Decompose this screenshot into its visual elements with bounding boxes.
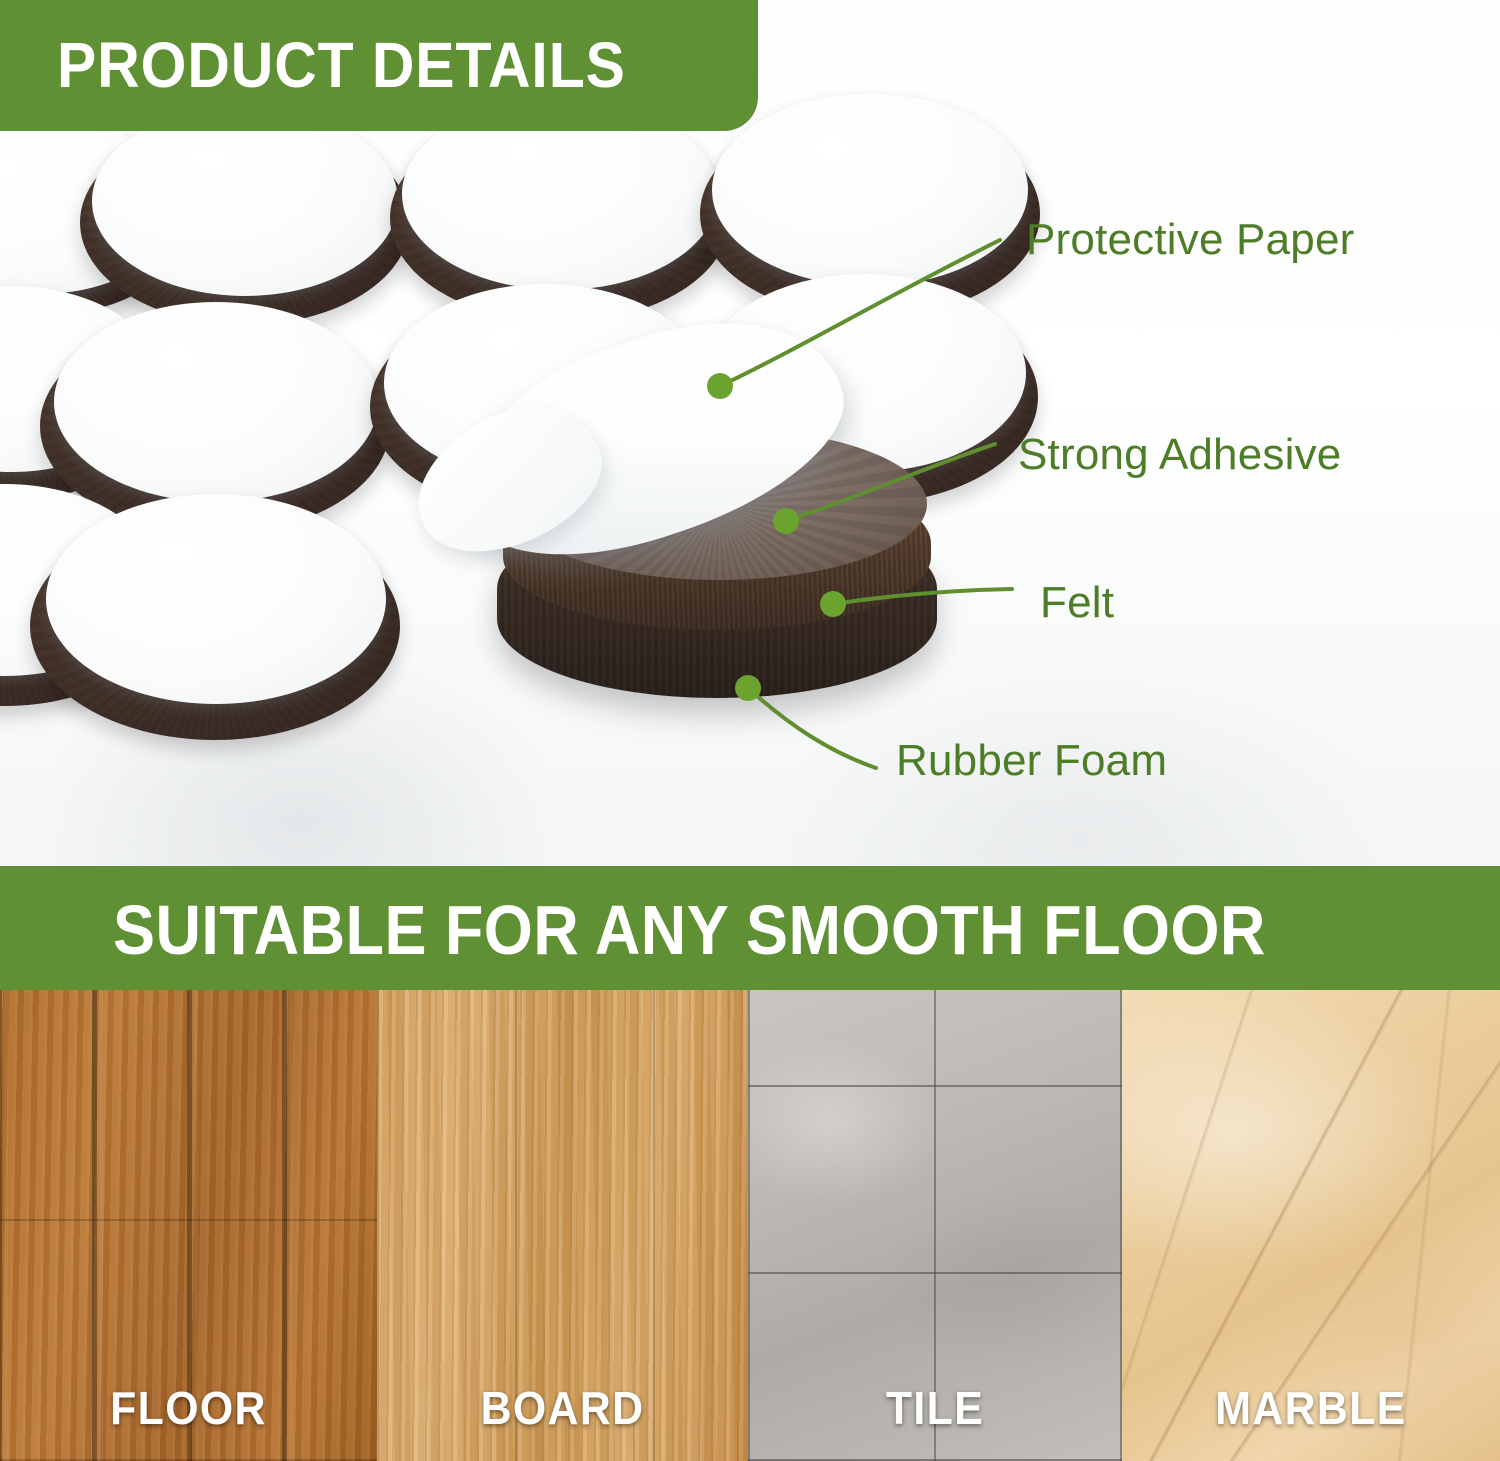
floor-sample-floor: FLOOR bbox=[0, 990, 377, 1461]
product-details-banner: PRODUCT DETAILS bbox=[0, 0, 758, 131]
floor-sample-label-tile: TILE bbox=[761, 1381, 1109, 1435]
featured-felt-pad bbox=[497, 392, 937, 712]
felt-pad bbox=[30, 512, 400, 740]
floor-sample-label-floor: FLOOR bbox=[13, 1381, 364, 1435]
suitable-floor-banner: SUITABLE FOR ANY SMOOTH FLOOR bbox=[0, 866, 1500, 990]
floor-sample-tile: TILE bbox=[748, 990, 1122, 1461]
callout-label-felt: Felt bbox=[1040, 578, 1114, 628]
callout-label-rubber-foam: Rubber Foam bbox=[896, 736, 1167, 786]
callout-label-strong-adhesive: Strong Adhesive bbox=[1018, 430, 1341, 480]
product-details-title: PRODUCT DETAILS bbox=[57, 28, 626, 102]
felt-pad bbox=[80, 120, 410, 325]
floor-sample-marble: MARBLE bbox=[1122, 990, 1500, 1461]
floor-sample-board: BOARD bbox=[377, 990, 748, 1461]
callout-label-protective-paper: Protective Paper bbox=[1026, 215, 1354, 265]
floor-sample-label-marble: MARBLE bbox=[1135, 1381, 1487, 1435]
suitable-floor-title: SUITABLE FOR ANY SMOOTH FLOOR bbox=[113, 890, 1266, 970]
floor-samples-strip: FLOOR BOARD TILE MARBLE bbox=[0, 990, 1500, 1461]
floor-sample-label-board: BOARD bbox=[390, 1381, 735, 1435]
